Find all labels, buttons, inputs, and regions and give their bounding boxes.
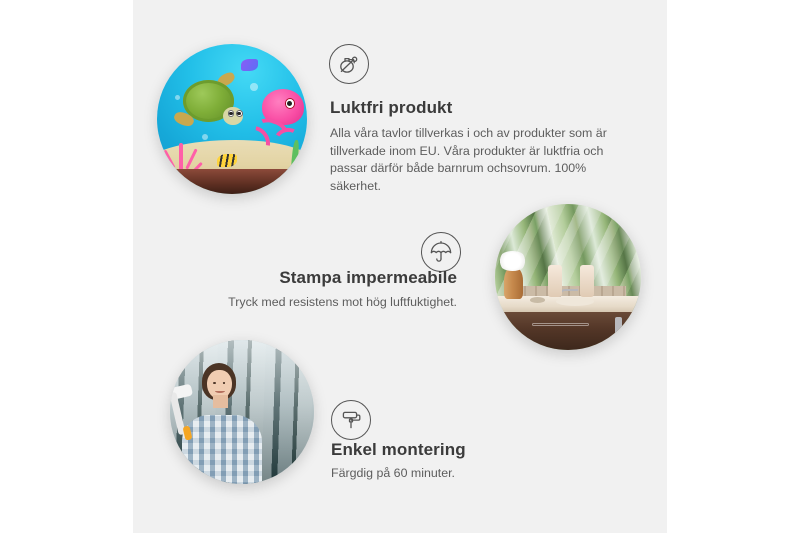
feature-description: Alla våra tavlor tillverkas i och av pro…	[330, 125, 628, 195]
paint-roller-icon	[331, 400, 371, 440]
feature-description: Färgdig på 60 minuter.	[331, 465, 631, 483]
feature-title: Luktfri produkt	[330, 98, 628, 118]
no-fragrance-icon	[329, 44, 369, 84]
product-feature-infographic: Luktfri produkt Alla våra tavlor tillver…	[0, 0, 800, 533]
feature-text-stampa: Stampa impermeabile Tryck med resistens …	[157, 268, 457, 312]
feature-title: Stampa impermeabile	[157, 268, 457, 288]
umbrella-icon	[421, 232, 461, 272]
image-bathroom-tropical-wallpaper	[495, 204, 641, 350]
image-underwater-kids-mural	[157, 44, 307, 194]
underwater-scene	[157, 44, 307, 194]
feature-text-luktfri: Luktfri produkt Alla våra tavlor tillver…	[330, 98, 628, 195]
woman-forest-scene	[170, 340, 314, 484]
image-woman-with-paint-roller	[170, 340, 314, 484]
feature-text-enkel: Enkel montering Färgdig på 60 minuter.	[331, 440, 631, 483]
feature-description: Tryck med resistens mot hög luftfuktighe…	[157, 294, 457, 312]
content-panel: Luktfri produkt Alla våra tavlor tillver…	[133, 0, 667, 533]
feature-title: Enkel montering	[331, 440, 631, 460]
bathroom-scene	[495, 204, 641, 350]
